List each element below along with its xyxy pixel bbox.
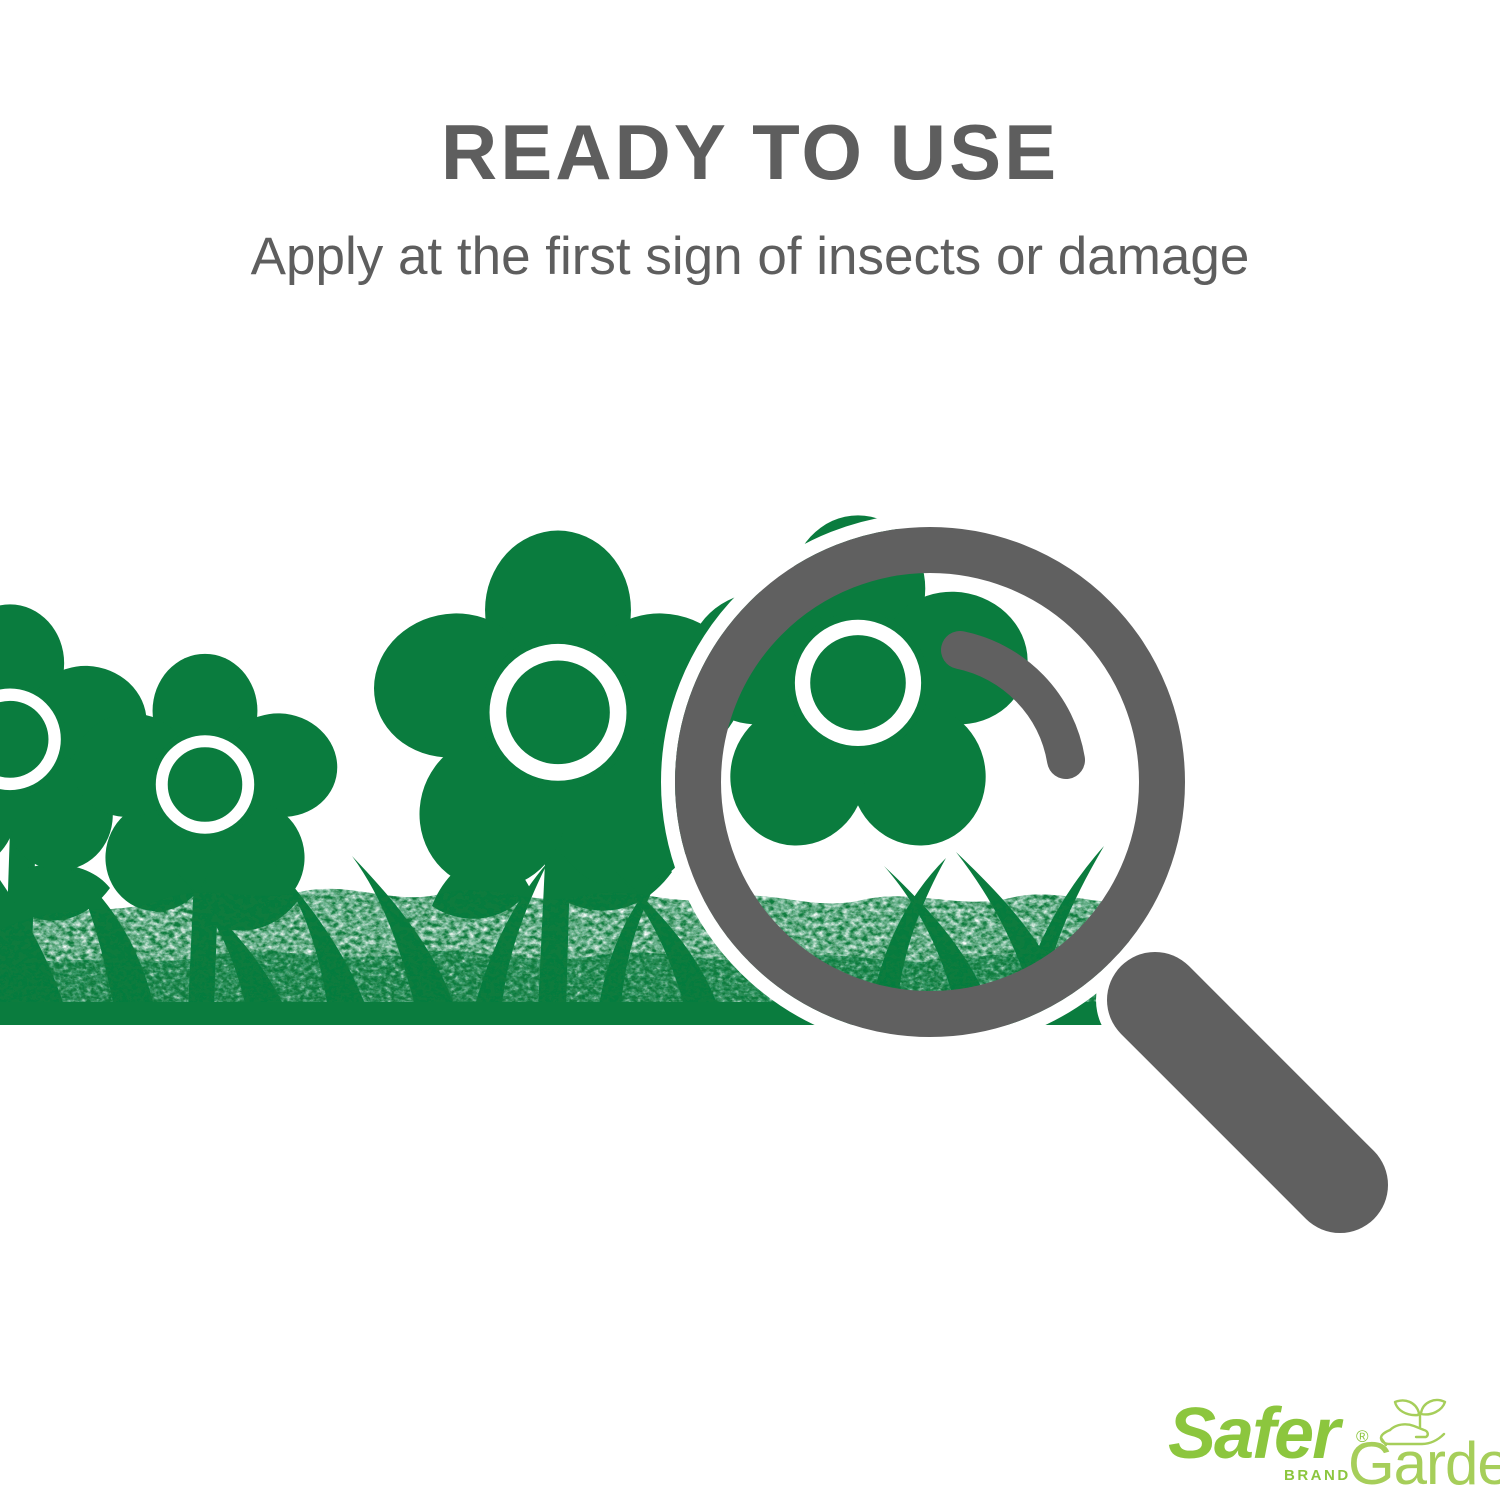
garden-magnifier-illustration: [0, 0, 1500, 1500]
grass-baseline: [0, 1002, 1130, 1025]
magnifier-ring: [698, 550, 1162, 1014]
garden-artwork: [0, 515, 1130, 1025]
brand-logo[interactable]: Safer ® BRAND Garden: [1168, 1398, 1468, 1490]
flower-left-partial: [0, 604, 157, 882]
magnifier-highlight-arc: [960, 650, 1066, 760]
hand-holding-sprout-icon: [1378, 1394, 1456, 1450]
page-title: READY TO USE: [0, 113, 1500, 191]
flower-large-center: [361, 531, 756, 906]
logo-brand-word: BRAND: [1284, 1468, 1351, 1483]
page-subtitle: Apply at the first sign of insects or da…: [0, 228, 1500, 286]
poster-canvas: READY TO USE Apply at the first sign of …: [0, 0, 1500, 1500]
grass-blades: [0, 846, 1104, 1025]
grass-texture-overlay: [0, 951, 1130, 1025]
magnifier-handle: [1155, 1000, 1340, 1185]
grass-texture-band: [0, 889, 1130, 1025]
logo-safer-wordmark: Safer: [1168, 1398, 1338, 1470]
flower-small-left: [63, 654, 347, 923]
flower-behind-lens: [676, 515, 1040, 860]
magnifying-glass-icon: [668, 520, 1340, 1185]
stems-and-leaves: [4, 800, 672, 1010]
